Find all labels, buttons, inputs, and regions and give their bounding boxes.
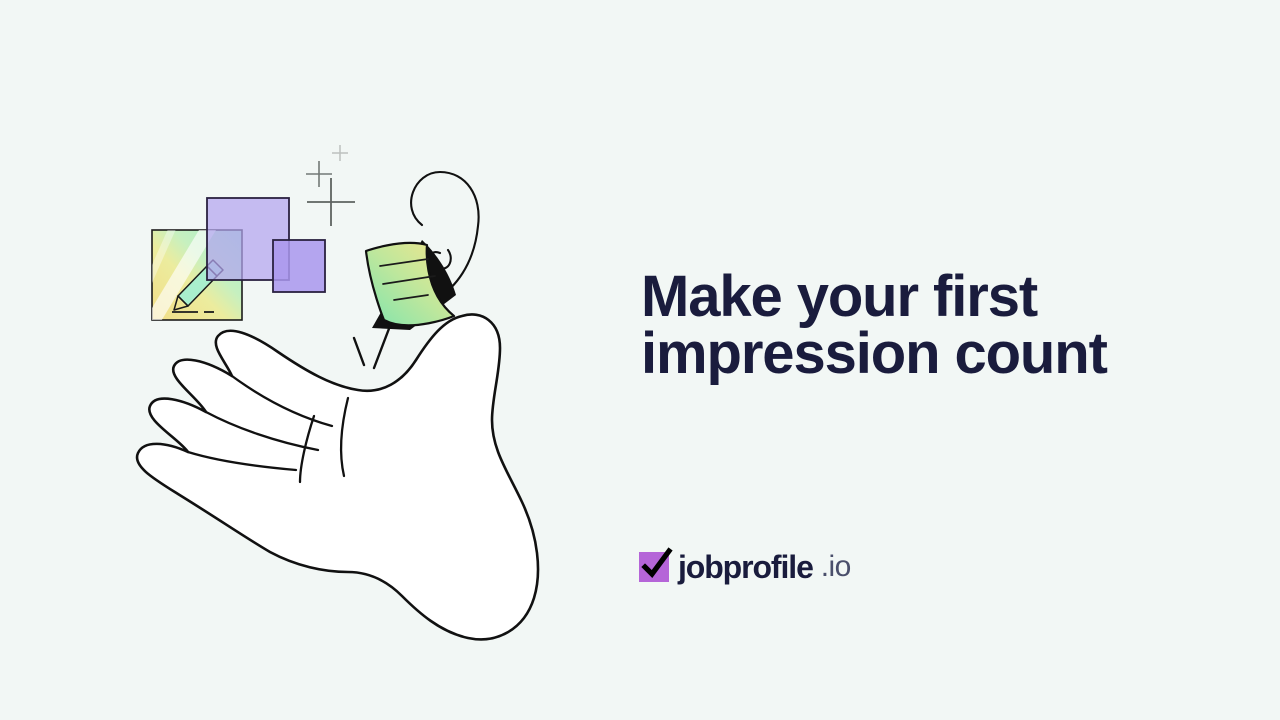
motion-lines [354,326,390,368]
plus-mark-small [332,145,348,161]
purple-squares [207,198,325,292]
hero-content: Make your first impression count [641,268,1201,382]
checkmark-icon [639,548,673,582]
floating-note [366,240,456,330]
plus-mark-medium [306,161,332,187]
hero-banner: Make your first impression count jobprof… [0,0,1280,720]
plus-mark-large [307,178,355,226]
page-title: Make your first impression count [641,268,1201,382]
hero-illustration [110,120,570,660]
checkbox-icon [639,552,669,582]
logo-wordmark: jobprofile [678,551,813,583]
logo-tld: .io [821,552,851,582]
brand-logo[interactable]: jobprofile .io [639,551,851,583]
sparkle-plus-marks [306,145,355,226]
open-hand [137,314,538,639]
